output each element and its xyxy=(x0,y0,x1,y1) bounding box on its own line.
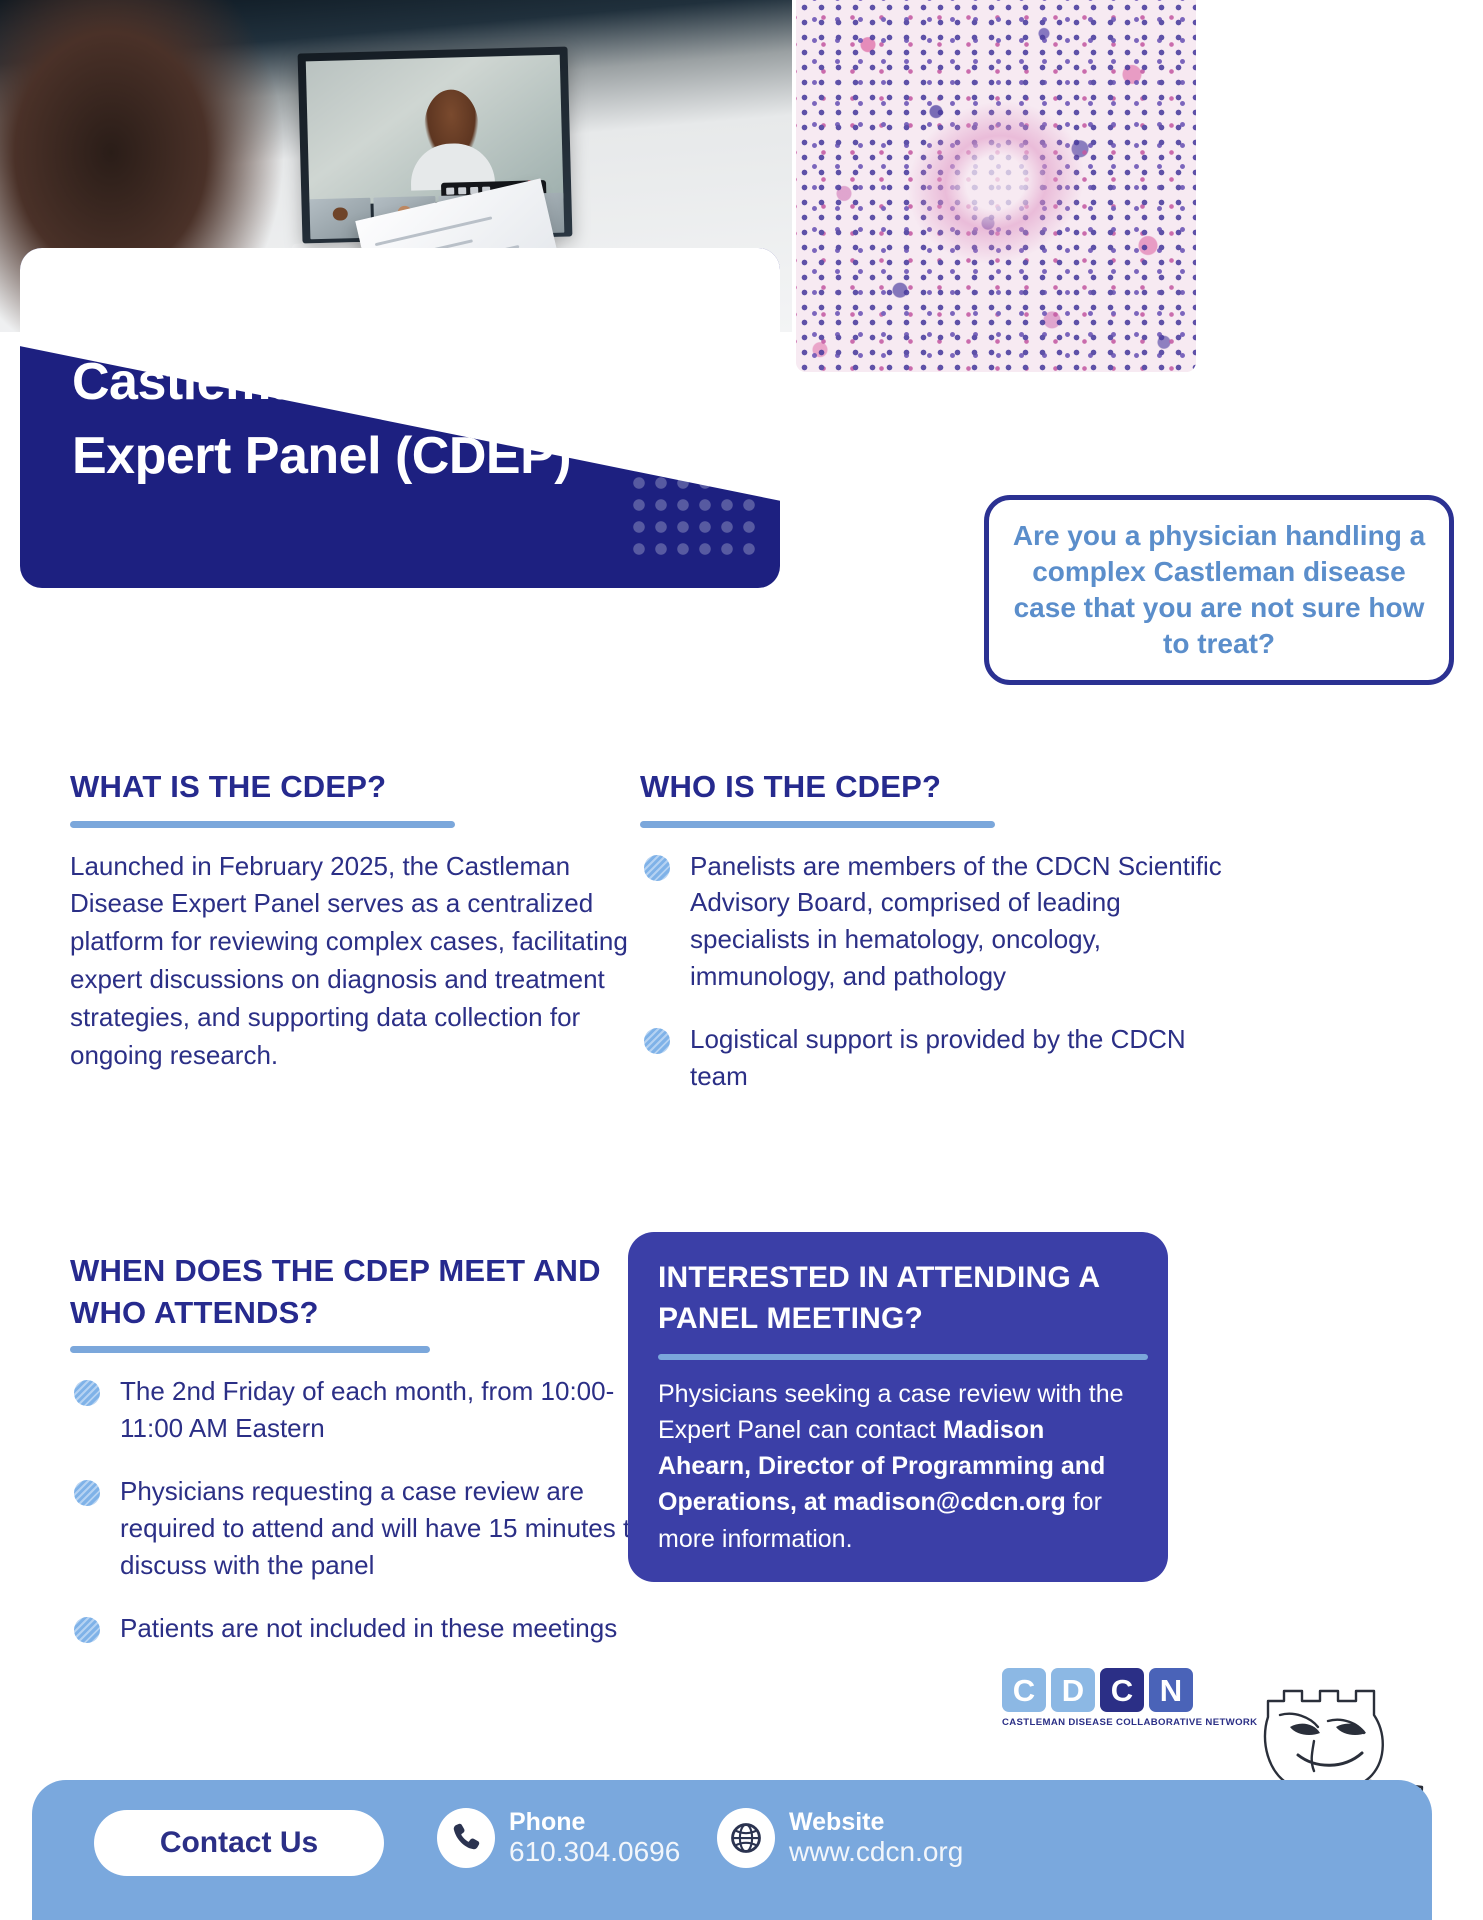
question-callout: Are you a physician handling a complex C… xyxy=(984,495,1454,685)
interested-heading: INTERESTED IN ATTENDING A PANEL MEETING? xyxy=(658,1258,1138,1340)
list-item: Physicians requesting a case review are … xyxy=(70,1473,660,1584)
section-body-what: Launched in February 2025, the Castleman… xyxy=(70,848,660,1076)
logo-tile-c2: C xyxy=(1100,1668,1144,1712)
interested-divider xyxy=(658,1354,1148,1360)
section-heading-what: WHAT IS THE CDEP? xyxy=(70,766,660,808)
logo-tile-d: D xyxy=(1051,1668,1095,1712)
section-who-is-cdep: WHO IS THE CDEP? Panelists are members o… xyxy=(640,766,1230,1095)
list-item: The 2nd Friday of each month, from 10:00… xyxy=(70,1373,660,1447)
when-bullet-list: The 2nd Friday of each month, from 10:00… xyxy=(70,1373,660,1646)
website-url: www.cdcn.org xyxy=(789,1836,963,1867)
menu-icon xyxy=(447,188,455,195)
footer-website-text: Website www.cdcn.org xyxy=(789,1808,963,1867)
section-when-meets: WHEN DOES THE CDEP MEET AND WHO ATTENDS?… xyxy=(70,1250,660,1647)
footer-website-block[interactable]: Website www.cdcn.org xyxy=(717,1808,963,1868)
section-divider xyxy=(70,821,455,828)
list-item: Patients are not included in these meeti… xyxy=(70,1610,660,1647)
question-callout-text: Are you a physician handling a complex C… xyxy=(1007,518,1431,661)
contact-us-label: Contact Us xyxy=(160,1826,318,1860)
globe-icon xyxy=(717,1808,775,1868)
section-divider xyxy=(640,821,995,828)
camera-icon xyxy=(459,187,467,194)
logo-tile-n: N xyxy=(1149,1668,1193,1712)
histopathology-slide-photo xyxy=(796,0,1196,372)
website-label: Website xyxy=(789,1808,963,1836)
logo-tile-c1: C xyxy=(1002,1668,1046,1712)
phone-number: 610.304.0696 xyxy=(509,1836,680,1867)
interested-body-part1: Physicians seeking a case review with th… xyxy=(658,1380,1124,1444)
interested-callout-box: INTERESTED IN ATTENDING A PANEL MEETING?… xyxy=(628,1232,1168,1582)
contact-us-button[interactable]: Contact Us xyxy=(94,1810,384,1876)
interested-body: Physicians seeking a case review with th… xyxy=(658,1376,1138,1557)
list-item: Panelists are members of the CDCN Scient… xyxy=(640,848,1230,996)
cdcn-logo-caption: CASTLEMAN DISEASE COLLABORATIVE NETWORK xyxy=(1002,1717,1198,1728)
phone-label: Phone xyxy=(509,1808,680,1836)
section-heading-when: WHEN DOES THE CDEP MEET AND WHO ATTENDS? xyxy=(70,1250,660,1333)
phone-icon xyxy=(437,1808,495,1868)
section-what-is-cdep: WHAT IS THE CDEP? Launched in February 2… xyxy=(70,766,660,1075)
footer-contact-bar: Contact Us Phone 610.304.0696 xyxy=(32,1780,1432,1920)
who-bullet-list: Panelists are members of the CDCN Scient… xyxy=(640,848,1230,1095)
section-heading-who: WHO IS THE CDEP? xyxy=(640,766,1230,808)
title-banner: Castleman Disease Expert Panel (CDEP) xyxy=(20,248,780,588)
cdcn-logo: C D C N CASTLEMAN DISEASE COLLABORATIVE … xyxy=(1002,1668,1198,1728)
page-title: Castleman Disease Expert Panel (CDEP) xyxy=(72,346,672,494)
section-divider xyxy=(70,1346,430,1353)
cdcn-logo-tiles: C D C N xyxy=(1002,1668,1198,1712)
list-item: Logistical support is provided by the CD… xyxy=(640,1021,1230,1095)
footer-phone-block[interactable]: Phone 610.304.0696 xyxy=(437,1808,680,1868)
flyer-page: Castleman Disease Expert Panel (CDEP) Ar… xyxy=(0,0,1483,1920)
footer-phone-text: Phone 610.304.0696 xyxy=(509,1808,680,1867)
